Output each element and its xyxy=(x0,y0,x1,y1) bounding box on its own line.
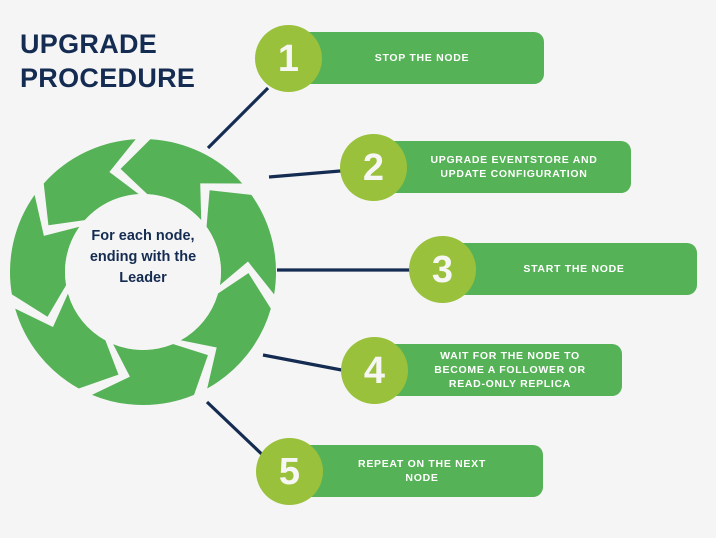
step-1-label-line-1: STOP THE NODE xyxy=(375,51,469,65)
step-5-label: REPEAT ON THE NEXTNODE xyxy=(322,445,522,497)
step-4-label-line-2: BECOME A FOLLOWER OR xyxy=(434,363,585,377)
step-4-label: WAIT FOR THE NODE TOBECOME A FOLLOWER OR… xyxy=(408,344,612,396)
step-4-number-badge[interactable]: 4 xyxy=(341,337,408,404)
step-3-label: START THE NODE xyxy=(474,243,674,295)
step-5[interactable]: REPEAT ON THE NEXTNODE5 xyxy=(0,445,716,497)
step-1-number-badge[interactable]: 1 xyxy=(255,25,322,92)
step-5-number-badge[interactable]: 5 xyxy=(256,438,323,505)
infographic-canvas: UPGRADE PROCEDURE For each node, ending … xyxy=(0,0,716,538)
step-2-label-line-2: UPDATE CONFIGURATION xyxy=(430,167,597,181)
step-5-label-line-1: REPEAT ON THE NEXT xyxy=(358,457,486,471)
step-2[interactable]: UPGRADE EVENTSTORE ANDUPDATE CONFIGURATI… xyxy=(0,141,716,193)
step-1[interactable]: STOP THE NODE1 xyxy=(0,32,716,84)
step-4[interactable]: WAIT FOR THE NODE TOBECOME A FOLLOWER OR… xyxy=(0,344,716,396)
step-4-label-line-1: WAIT FOR THE NODE TO xyxy=(434,349,585,363)
step-3-number-badge[interactable]: 3 xyxy=(409,236,476,303)
step-3[interactable]: START THE NODE3 xyxy=(0,243,716,295)
step-1-label: STOP THE NODE xyxy=(322,32,522,84)
step-2-label-line-1: UPGRADE EVENTSTORE AND xyxy=(430,153,597,167)
connector-to-step-1 xyxy=(208,88,268,148)
step-3-label-line-1: START THE NODE xyxy=(523,262,624,276)
step-2-number-badge[interactable]: 2 xyxy=(340,134,407,201)
step-4-label-line-3: READ-ONLY REPLICA xyxy=(434,377,585,391)
step-2-label: UPGRADE EVENTSTORE ANDUPDATE CONFIGURATI… xyxy=(410,141,618,193)
step-5-label-line-2: NODE xyxy=(358,471,486,485)
